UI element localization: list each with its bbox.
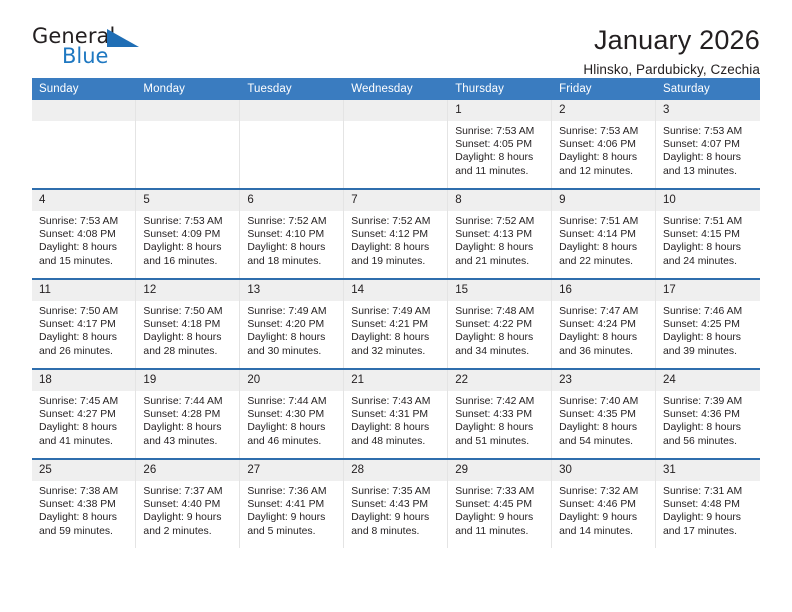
day-number: 30 [552,460,655,481]
day-number: 6 [240,190,343,211]
day-details: Sunrise: 7:32 AMSunset: 4:46 PMDaylight:… [552,481,655,538]
day-number: 27 [240,460,343,481]
calendar-week-row: 4Sunrise: 7:53 AMSunset: 4:08 PMDaylight… [32,189,760,279]
day-number: 29 [448,460,551,481]
sunrise-time: Sunrise: 7:42 AM [455,395,546,408]
calendar-day-cell[interactable]: 26Sunrise: 7:37 AMSunset: 4:40 PMDayligh… [136,459,240,548]
day-details: Sunrise: 7:50 AMSunset: 4:18 PMDaylight:… [136,301,239,358]
sunset-time: Sunset: 4:28 PM [143,408,234,421]
daylight-duration-line2: and 13 minutes. [663,165,754,178]
calendar-day-cell[interactable]: 2Sunrise: 7:53 AMSunset: 4:06 PMDaylight… [552,100,656,189]
sunrise-time: Sunrise: 7:50 AM [39,305,130,318]
sunset-time: Sunset: 4:05 PM [455,138,546,151]
calendar-day-cell[interactable]: 5Sunrise: 7:53 AMSunset: 4:09 PMDaylight… [136,189,240,279]
sunrise-time: Sunrise: 7:33 AM [455,485,546,498]
sunset-time: Sunset: 4:48 PM [663,498,754,511]
sunrise-time: Sunrise: 7:48 AM [455,305,546,318]
day-details: Sunrise: 7:50 AMSunset: 4:17 PMDaylight:… [32,301,135,358]
day-details: Sunrise: 7:37 AMSunset: 4:40 PMDaylight:… [136,481,239,538]
logo-triangle-icon [107,29,139,47]
sunset-time: Sunset: 4:06 PM [559,138,650,151]
daylight-duration-line2: and 36 minutes. [559,345,650,358]
calendar-day-cell[interactable]: 31Sunrise: 7:31 AMSunset: 4:48 PMDayligh… [656,459,760,548]
day-number: 23 [552,370,655,391]
sunrise-time: Sunrise: 7:44 AM [247,395,338,408]
daylight-duration-line1: Daylight: 8 hours [663,421,754,434]
sunrise-time: Sunrise: 7:53 AM [143,215,234,228]
sunrise-time: Sunrise: 7:45 AM [39,395,130,408]
day-details: Sunrise: 7:52 AMSunset: 4:12 PMDaylight:… [344,211,447,268]
day-details: Sunrise: 7:31 AMSunset: 4:48 PMDaylight:… [656,481,759,538]
sunset-time: Sunset: 4:21 PM [351,318,442,331]
daylight-duration-line1: Daylight: 8 hours [143,331,234,344]
day-number: 13 [240,280,343,301]
day-number: 11 [32,280,135,301]
daylight-duration-line2: and 48 minutes. [351,435,442,448]
sunrise-time: Sunrise: 7:51 AM [559,215,650,228]
day-details: Sunrise: 7:46 AMSunset: 4:25 PMDaylight:… [656,301,759,358]
sunrise-time: Sunrise: 7:31 AM [663,485,754,498]
day-details: Sunrise: 7:53 AMSunset: 4:07 PMDaylight:… [656,121,759,178]
daylight-duration-line1: Daylight: 8 hours [663,151,754,164]
weekday-header-row: Sunday Monday Tuesday Wednesday Thursday… [32,78,760,100]
calendar-day-cell[interactable]: 14Sunrise: 7:49 AMSunset: 4:21 PMDayligh… [344,279,448,369]
sunrise-sunset-calendar: Sunday Monday Tuesday Wednesday Thursday… [32,78,760,548]
calendar-day-cell[interactable]: 6Sunrise: 7:52 AMSunset: 4:10 PMDaylight… [240,189,344,279]
sunrise-time: Sunrise: 7:53 AM [559,125,650,138]
daylight-duration-line2: and 46 minutes. [247,435,338,448]
sunset-time: Sunset: 4:12 PM [351,228,442,241]
day-number: 9 [552,190,655,211]
sunset-time: Sunset: 4:35 PM [559,408,650,421]
daylight-duration-line1: Daylight: 8 hours [351,241,442,254]
sunrise-time: Sunrise: 7:44 AM [143,395,234,408]
calendar-week-row: 1Sunrise: 7:53 AMSunset: 4:05 PMDaylight… [32,100,760,189]
day-number [344,100,447,121]
day-details: Sunrise: 7:53 AMSunset: 4:06 PMDaylight:… [552,121,655,178]
daylight-duration-line2: and 22 minutes. [559,255,650,268]
day-details: Sunrise: 7:49 AMSunset: 4:21 PMDaylight:… [344,301,447,358]
daylight-duration-line2: and 32 minutes. [351,345,442,358]
daylight-duration-line1: Daylight: 8 hours [351,331,442,344]
calendar-day-cell-empty [136,100,240,189]
weekday-header-monday: Monday [136,78,240,100]
weekday-header-thursday: Thursday [448,78,552,100]
sunrise-time: Sunrise: 7:53 AM [455,125,546,138]
daylight-duration-line1: Daylight: 8 hours [455,151,546,164]
day-details: Sunrise: 7:47 AMSunset: 4:24 PMDaylight:… [552,301,655,358]
sunrise-time: Sunrise: 7:49 AM [351,305,442,318]
calendar-day-cell[interactable]: 4Sunrise: 7:53 AMSunset: 4:08 PMDaylight… [32,189,136,279]
sunset-time: Sunset: 4:41 PM [247,498,338,511]
day-number [240,100,343,121]
daylight-duration-line2: and 11 minutes. [455,525,546,538]
day-number: 12 [136,280,239,301]
calendar-day-cell[interactable]: 1Sunrise: 7:53 AMSunset: 4:05 PMDaylight… [448,100,552,189]
calendar-day-cell[interactable]: 9Sunrise: 7:51 AMSunset: 4:14 PMDaylight… [552,189,656,279]
sunset-time: Sunset: 4:24 PM [559,318,650,331]
calendar-day-cell[interactable]: 23Sunrise: 7:40 AMSunset: 4:35 PMDayligh… [552,369,656,459]
day-details: Sunrise: 7:44 AMSunset: 4:30 PMDaylight:… [240,391,343,448]
sunset-time: Sunset: 4:31 PM [351,408,442,421]
sunrise-time: Sunrise: 7:52 AM [247,215,338,228]
calendar-day-cell[interactable]: 8Sunrise: 7:52 AMSunset: 4:13 PMDaylight… [448,189,552,279]
day-details: Sunrise: 7:53 AMSunset: 4:05 PMDaylight:… [448,121,551,178]
day-number: 14 [344,280,447,301]
logo-text-blue: Blue [62,46,108,67]
daylight-duration-line2: and 12 minutes. [559,165,650,178]
daylight-duration-line1: Daylight: 9 hours [559,511,650,524]
day-number: 31 [656,460,759,481]
day-details: Sunrise: 7:49 AMSunset: 4:20 PMDaylight:… [240,301,343,358]
day-number: 28 [344,460,447,481]
daylight-duration-line2: and 54 minutes. [559,435,650,448]
sunset-time: Sunset: 4:27 PM [39,408,130,421]
day-details: Sunrise: 7:51 AMSunset: 4:15 PMDaylight:… [656,211,759,268]
calendar-day-cell[interactable]: 7Sunrise: 7:52 AMSunset: 4:12 PMDaylight… [344,189,448,279]
daylight-duration-line2: and 11 minutes. [455,165,546,178]
day-number: 25 [32,460,135,481]
day-number: 15 [448,280,551,301]
calendar-day-cell-empty [344,100,448,189]
daylight-duration-line2: and 56 minutes. [663,435,754,448]
day-number: 10 [656,190,759,211]
calendar-body: 1Sunrise: 7:53 AMSunset: 4:05 PMDaylight… [32,100,760,548]
sunrise-time: Sunrise: 7:37 AM [143,485,234,498]
title-block: January 2026 Hlinsko, Pardubicky, Czechi… [583,26,760,77]
sunset-time: Sunset: 4:15 PM [663,228,754,241]
day-details: Sunrise: 7:33 AMSunset: 4:45 PMDaylight:… [448,481,551,538]
daylight-duration-line2: and 30 minutes. [247,345,338,358]
calendar-day-cell[interactable]: 17Sunrise: 7:46 AMSunset: 4:25 PMDayligh… [656,279,760,369]
sunset-time: Sunset: 4:45 PM [455,498,546,511]
daylight-duration-line2: and 51 minutes. [455,435,546,448]
weekday-header-friday: Friday [552,78,656,100]
day-details: Sunrise: 7:39 AMSunset: 4:36 PMDaylight:… [656,391,759,448]
sunrise-time: Sunrise: 7:50 AM [143,305,234,318]
daylight-duration-line1: Daylight: 8 hours [559,331,650,344]
day-details: Sunrise: 7:38 AMSunset: 4:38 PMDaylight:… [32,481,135,538]
sunrise-time: Sunrise: 7:43 AM [351,395,442,408]
calendar-day-cell[interactable]: 28Sunrise: 7:35 AMSunset: 4:43 PMDayligh… [344,459,448,548]
daylight-duration-line2: and 16 minutes. [143,255,234,268]
sunset-time: Sunset: 4:38 PM [39,498,130,511]
day-details: Sunrise: 7:44 AMSunset: 4:28 PMDaylight:… [136,391,239,448]
calendar-page: General Blue January 2026 Hlinsko, Pardu… [0,0,792,612]
sunset-time: Sunset: 4:46 PM [559,498,650,511]
calendar-day-cell[interactable]: 20Sunrise: 7:44 AMSunset: 4:30 PMDayligh… [240,369,344,459]
daylight-duration-line2: and 15 minutes. [39,255,130,268]
daylight-duration-line2: and 59 minutes. [39,525,130,538]
daylight-duration-line1: Daylight: 9 hours [455,511,546,524]
sunrise-time: Sunrise: 7:36 AM [247,485,338,498]
sunset-time: Sunset: 4:13 PM [455,228,546,241]
daylight-duration-line2: and 2 minutes. [143,525,234,538]
sunrise-time: Sunrise: 7:53 AM [663,125,754,138]
calendar-day-cell[interactable]: 15Sunrise: 7:48 AMSunset: 4:22 PMDayligh… [448,279,552,369]
sunset-time: Sunset: 4:30 PM [247,408,338,421]
sunset-time: Sunset: 4:14 PM [559,228,650,241]
weekday-header-wednesday: Wednesday [344,78,448,100]
day-details: Sunrise: 7:52 AMSunset: 4:13 PMDaylight:… [448,211,551,268]
day-number [136,100,239,121]
sunrise-time: Sunrise: 7:52 AM [351,215,442,228]
sunrise-time: Sunrise: 7:46 AM [663,305,754,318]
day-number: 20 [240,370,343,391]
daylight-duration-line1: Daylight: 8 hours [455,241,546,254]
sunrise-time: Sunrise: 7:40 AM [559,395,650,408]
daylight-duration-line1: Daylight: 8 hours [143,421,234,434]
weekday-header-saturday: Saturday [656,78,760,100]
calendar-day-cell[interactable]: 13Sunrise: 7:49 AMSunset: 4:20 PMDayligh… [240,279,344,369]
sunset-time: Sunset: 4:22 PM [455,318,546,331]
day-number: 18 [32,370,135,391]
day-number: 5 [136,190,239,211]
daylight-duration-line1: Daylight: 8 hours [39,421,130,434]
day-details: Sunrise: 7:52 AMSunset: 4:10 PMDaylight:… [240,211,343,268]
sunset-time: Sunset: 4:07 PM [663,138,754,151]
day-details: Sunrise: 7:35 AMSunset: 4:43 PMDaylight:… [344,481,447,538]
daylight-duration-line1: Daylight: 9 hours [351,511,442,524]
day-number: 26 [136,460,239,481]
calendar-day-cell[interactable]: 25Sunrise: 7:38 AMSunset: 4:38 PMDayligh… [32,459,136,548]
daylight-duration-line1: Daylight: 8 hours [559,241,650,254]
daylight-duration-line2: and 26 minutes. [39,345,130,358]
calendar-week-row: 11Sunrise: 7:50 AMSunset: 4:17 PMDayligh… [32,279,760,369]
calendar-week-row: 25Sunrise: 7:38 AMSunset: 4:38 PMDayligh… [32,459,760,548]
sunrise-time: Sunrise: 7:51 AM [663,215,754,228]
daylight-duration-line1: Daylight: 8 hours [247,421,338,434]
daylight-duration-line2: and 5 minutes. [247,525,338,538]
day-number: 19 [136,370,239,391]
calendar-day-cell[interactable]: 27Sunrise: 7:36 AMSunset: 4:41 PMDayligh… [240,459,344,548]
daylight-duration-line1: Daylight: 8 hours [663,241,754,254]
day-number [32,100,135,121]
day-number: 2 [552,100,655,121]
page-title: January 2026 [583,26,760,55]
daylight-duration-line2: and 24 minutes. [663,255,754,268]
page-header: General Blue January 2026 Hlinsko, Pardu… [32,0,760,74]
calendar-week-row: 18Sunrise: 7:45 AMSunset: 4:27 PMDayligh… [32,369,760,459]
sunset-time: Sunset: 4:33 PM [455,408,546,421]
sunrise-time: Sunrise: 7:38 AM [39,485,130,498]
weekday-header-tuesday: Tuesday [240,78,344,100]
calendar-day-cell[interactable]: 24Sunrise: 7:39 AMSunset: 4:36 PMDayligh… [656,369,760,459]
sunset-time: Sunset: 4:43 PM [351,498,442,511]
daylight-duration-line2: and 28 minutes. [143,345,234,358]
calendar-day-cell[interactable]: 18Sunrise: 7:45 AMSunset: 4:27 PMDayligh… [32,369,136,459]
location-subtitle: Hlinsko, Pardubicky, Czechia [583,62,760,77]
daylight-duration-line1: Daylight: 8 hours [455,421,546,434]
day-details: Sunrise: 7:42 AMSunset: 4:33 PMDaylight:… [448,391,551,448]
day-number: 3 [656,100,759,121]
day-details: Sunrise: 7:53 AMSunset: 4:08 PMDaylight:… [32,211,135,268]
sunrise-time: Sunrise: 7:49 AM [247,305,338,318]
calendar-day-cell[interactable]: 10Sunrise: 7:51 AMSunset: 4:15 PMDayligh… [656,189,760,279]
calendar-day-cell[interactable]: 16Sunrise: 7:47 AMSunset: 4:24 PMDayligh… [552,279,656,369]
daylight-duration-line2: and 21 minutes. [455,255,546,268]
day-details: Sunrise: 7:53 AMSunset: 4:09 PMDaylight:… [136,211,239,268]
day-number: 16 [552,280,655,301]
daylight-duration-line2: and 39 minutes. [663,345,754,358]
calendar-day-cell-empty [32,100,136,189]
daylight-duration-line1: Daylight: 8 hours [455,331,546,344]
daylight-duration-line2: and 34 minutes. [455,345,546,358]
sunrise-time: Sunrise: 7:32 AM [559,485,650,498]
sunset-time: Sunset: 4:18 PM [143,318,234,331]
sunset-time: Sunset: 4:25 PM [663,318,754,331]
daylight-duration-line2: and 41 minutes. [39,435,130,448]
calendar-day-cell[interactable]: 12Sunrise: 7:50 AMSunset: 4:18 PMDayligh… [136,279,240,369]
daylight-duration-line1: Daylight: 9 hours [247,511,338,524]
calendar-day-cell[interactable]: 11Sunrise: 7:50 AMSunset: 4:17 PMDayligh… [32,279,136,369]
daylight-duration-line2: and 8 minutes. [351,525,442,538]
sunrise-time: Sunrise: 7:52 AM [455,215,546,228]
daylight-duration-line2: and 43 minutes. [143,435,234,448]
day-number: 22 [448,370,551,391]
day-number: 1 [448,100,551,121]
day-number: 17 [656,280,759,301]
daylight-duration-line2: and 18 minutes. [247,255,338,268]
day-details: Sunrise: 7:51 AMSunset: 4:14 PMDaylight:… [552,211,655,268]
day-number: 24 [656,370,759,391]
sunset-time: Sunset: 4:20 PM [247,318,338,331]
calendar-day-cell[interactable]: 29Sunrise: 7:33 AMSunset: 4:45 PMDayligh… [448,459,552,548]
sunset-time: Sunset: 4:10 PM [247,228,338,241]
daylight-duration-line2: and 14 minutes. [559,525,650,538]
daylight-duration-line1: Daylight: 8 hours [559,151,650,164]
daylight-duration-line1: Daylight: 8 hours [39,241,130,254]
weekday-header-sunday: Sunday [32,78,136,100]
sunset-time: Sunset: 4:17 PM [39,318,130,331]
daylight-duration-line1: Daylight: 9 hours [143,511,234,524]
day-number: 7 [344,190,447,211]
day-details: Sunrise: 7:43 AMSunset: 4:31 PMDaylight:… [344,391,447,448]
day-number: 21 [344,370,447,391]
calendar-day-cell[interactable]: 3Sunrise: 7:53 AMSunset: 4:07 PMDaylight… [656,100,760,189]
daylight-duration-line1: Daylight: 8 hours [39,511,130,524]
calendar-day-cell[interactable]: 22Sunrise: 7:42 AMSunset: 4:33 PMDayligh… [448,369,552,459]
sunrise-time: Sunrise: 7:53 AM [39,215,130,228]
sunrise-time: Sunrise: 7:47 AM [559,305,650,318]
general-blue-logo[interactable]: General Blue [32,26,152,74]
calendar-day-cell[interactable]: 30Sunrise: 7:32 AMSunset: 4:46 PMDayligh… [552,459,656,548]
day-number: 8 [448,190,551,211]
daylight-duration-line2: and 19 minutes. [351,255,442,268]
day-details: Sunrise: 7:48 AMSunset: 4:22 PMDaylight:… [448,301,551,358]
sunset-time: Sunset: 4:36 PM [663,408,754,421]
daylight-duration-line1: Daylight: 8 hours [663,331,754,344]
day-details: Sunrise: 7:36 AMSunset: 4:41 PMDaylight:… [240,481,343,538]
daylight-duration-line1: Daylight: 8 hours [39,331,130,344]
calendar-day-cell[interactable]: 19Sunrise: 7:44 AMSunset: 4:28 PMDayligh… [136,369,240,459]
sunrise-time: Sunrise: 7:39 AM [663,395,754,408]
daylight-duration-line1: Daylight: 8 hours [351,421,442,434]
day-details: Sunrise: 7:40 AMSunset: 4:35 PMDaylight:… [552,391,655,448]
daylight-duration-line1: Daylight: 8 hours [247,241,338,254]
daylight-duration-line2: and 17 minutes. [663,525,754,538]
sunset-time: Sunset: 4:40 PM [143,498,234,511]
sunset-time: Sunset: 4:08 PM [39,228,130,241]
calendar-day-cell[interactable]: 21Sunrise: 7:43 AMSunset: 4:31 PMDayligh… [344,369,448,459]
sunset-time: Sunset: 4:09 PM [143,228,234,241]
calendar-day-cell-empty [240,100,344,189]
day-details: Sunrise: 7:45 AMSunset: 4:27 PMDaylight:… [32,391,135,448]
day-number: 4 [32,190,135,211]
sunrise-time: Sunrise: 7:35 AM [351,485,442,498]
daylight-duration-line1: Daylight: 8 hours [247,331,338,344]
daylight-duration-line1: Daylight: 8 hours [143,241,234,254]
daylight-duration-line1: Daylight: 9 hours [663,511,754,524]
daylight-duration-line1: Daylight: 8 hours [559,421,650,434]
